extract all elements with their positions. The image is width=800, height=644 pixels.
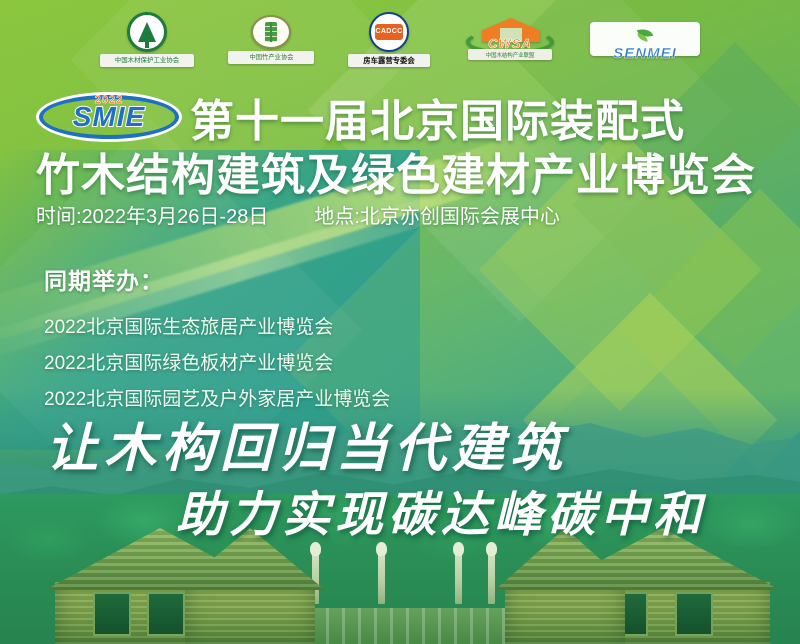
wooden-cabin (505, 556, 625, 644)
cadcc-abbr: CADCC (375, 24, 403, 40)
leaf-icon (636, 25, 654, 43)
cadcc-roundel-icon: CADCC (369, 12, 409, 52)
sponsor-caption-text: 中国竹产业协会 (249, 53, 293, 62)
cabin-window (675, 592, 713, 636)
bamboo-icon (265, 22, 277, 42)
sponsor-caption-text: 房车露营专委会 (363, 55, 415, 65)
patio-umbrella (378, 548, 385, 604)
page-title: 第十一届北京国际装配式 竹木结构建筑及绿色建材产业博览会 (0, 96, 800, 202)
concurrent-item: 2022北京国际生态旅居产业博览会 (44, 310, 604, 346)
cabin-window (93, 592, 131, 636)
sponsor-logo-strip: 中国木材保护工业协会 中国竹产业协会 CADCC 房车露营专委会 CWSA (0, 8, 800, 70)
cabin-window (147, 592, 185, 636)
sponsor-logo-china-wood-protection: 中国木材保护工业协会 (100, 12, 194, 67)
sponsor-logo-senmei: SENMEI (590, 22, 700, 56)
concurrent-events: 同期举办： 2022北京国际生态旅居产业博览会 2022北京国际绿色板材产业博览… (44, 262, 604, 418)
sponsor-caption: 中国木结构产业联盟 (468, 49, 552, 60)
event-date: 时间:2022年3月26日-28日 (36, 204, 268, 230)
patio-umbrella (488, 548, 495, 604)
cabin-wall (505, 582, 625, 644)
concurrent-item: 2022北京国际绿色板材产业博览会 (44, 346, 604, 382)
slogan-line-1: 让木构回归当代建筑 (46, 418, 568, 480)
bamboo-oval-icon (251, 15, 291, 49)
sponsor-caption: 中国木材保护工业协会 (100, 54, 194, 67)
sponsor-caption-text: 中国木结构产业联盟 (486, 50, 535, 58)
sponsor-caption: 中国竹产业协会 (228, 51, 314, 64)
title-line-1: 第十一届北京国际装配式 (190, 96, 800, 148)
concurrent-heading: 同期举办： (44, 262, 604, 296)
sponsor-caption-text: 中国木材保护工业协会 (115, 55, 179, 64)
tree-roundel-icon (127, 12, 167, 52)
tree-icon (138, 22, 156, 42)
cabin-wall (185, 582, 315, 644)
slogan-line-2: 助力实现碳达峰碳中和 (176, 486, 706, 544)
patio-umbrella (455, 548, 462, 604)
event-venue: 地点:北京亦创国际会展中心 (314, 204, 560, 230)
wooden-cabin (185, 552, 315, 644)
sponsor-caption: 房车露营专委会 (348, 54, 430, 67)
senmei-abbr: SENMEI (613, 45, 677, 62)
event-meta: 时间:2022年3月26日-28日 地点:北京亦创国际会展中心 (36, 204, 776, 230)
exhibition-poster: 中国木材保护工业协会 中国竹产业协会 CADCC 房车露营专委会 CWSA (0, 0, 800, 644)
sponsor-logo-cadcc: CADCC 房车露营专委会 (348, 12, 430, 67)
concurrent-item: 2022北京国际园艺及户外家居产业博览会 (44, 382, 604, 418)
sponsor-logo-cwsa: CWSA 中国木结构产业联盟 (464, 16, 556, 62)
title-line-2: 竹木结构建筑及绿色建材产业博览会 (36, 150, 800, 202)
sponsor-logo-bamboo-association: 中国竹产业协会 (228, 15, 314, 64)
